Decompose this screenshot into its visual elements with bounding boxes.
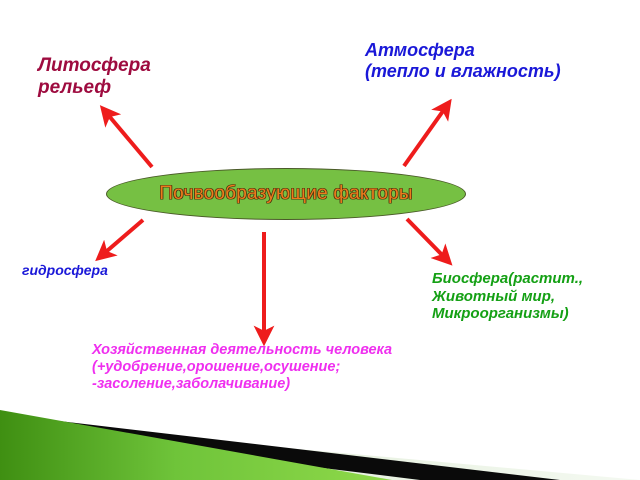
central-node-ellipse: Почвообразующие факторы <box>106 168 466 220</box>
arrow-to-hydrosphere <box>100 220 143 257</box>
central-node-label: Почвообразующие факторы <box>159 183 412 205</box>
label-hydrosphere: гидросфера <box>22 262 108 279</box>
label-atmosphere: Атмосфера (тепло и влажность) <box>365 40 561 82</box>
label-economic-activity: Хозяйственная деятельность человека (+уд… <box>92 342 392 393</box>
arrow-to-lithosphere <box>104 110 152 167</box>
label-biosphere: Биосфера(растит., Животный мир, Микроорг… <box>432 270 583 323</box>
arrow-to-atmosphere <box>404 104 448 166</box>
bottom-decorative-band <box>0 398 640 480</box>
label-lithosphere: Литосфера рельеф <box>38 55 151 100</box>
slide-canvas: Литосфера рельеф Атмосфера (тепло и влаж… <box>0 0 640 480</box>
band-green-wedge <box>0 410 392 480</box>
arrow-to-biosphere <box>407 219 448 261</box>
